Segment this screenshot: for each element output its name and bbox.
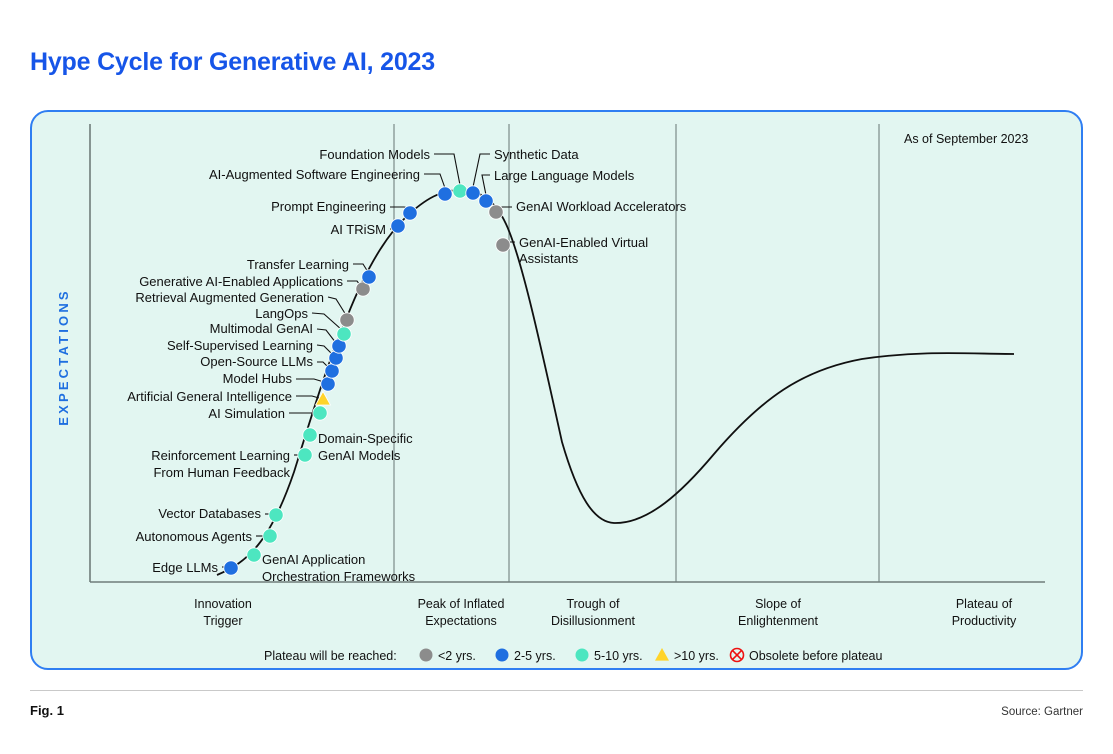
- datapoint-open-source-llms[interactable]: [325, 364, 339, 378]
- datapoint-label-open-source-llms: Open-Source LLMs: [200, 354, 313, 369]
- leader-line-agi: [296, 396, 319, 398]
- datapoint-label-foundation-models: Foundation Models: [319, 147, 430, 162]
- hype-cycle-chart-panel: EXPECTATIONSAs of September 2023Foundati…: [30, 110, 1083, 670]
- datapoint-label-prompt-eng: Prompt Engineering: [271, 199, 386, 214]
- phase-label-3-line1: Trough of: [566, 597, 620, 611]
- legend-label-lt2: <2 yrs.: [438, 649, 476, 663]
- datapoint-prompt-eng[interactable]: [403, 206, 417, 220]
- datapoint-label-genai-app-orch-2: Orchestration Frameworks: [262, 569, 416, 584]
- datapoint-synthetic-data[interactable]: [466, 186, 480, 200]
- legend-marker-lt2: [420, 649, 433, 662]
- legend-label-y5to10: 5-10 yrs.: [594, 649, 643, 663]
- datapoint-llm[interactable]: [479, 194, 493, 208]
- datapoint-vector-db[interactable]: [269, 508, 283, 522]
- legend-marker-y2to5: [496, 649, 509, 662]
- phase-label-2-line1: Peak of Inflated: [418, 597, 505, 611]
- datapoint-label-gen-ai-apps: Generative AI-Enabled Applications: [139, 274, 343, 289]
- legend-label-gt10: >10 yrs.: [674, 649, 719, 663]
- page-title: Hype Cycle for Generative AI, 2023: [30, 48, 435, 77]
- datapoint-label-langops: LangOps: [255, 306, 308, 321]
- legend-label-obsolete: Obsolete before plateau: [749, 649, 882, 663]
- datapoint-autonomous[interactable]: [263, 529, 277, 543]
- leader-line-model-hubs: [296, 379, 324, 382]
- datapoint-genai-app-orch[interactable]: [247, 548, 261, 562]
- datapoint-label-multimodal: Multimodal GenAI: [210, 321, 313, 336]
- datapoint-rlhf[interactable]: [298, 448, 312, 462]
- datapoint-label-agi: Artificial General Intelligence: [127, 389, 292, 404]
- leader-line-llm: [482, 175, 490, 195]
- datapoint-label-edge-llms: Edge LLMs: [152, 560, 218, 575]
- phase-label-5-line1: Plateau of: [956, 597, 1013, 611]
- phase-label-4-line1: Slope of: [755, 597, 801, 611]
- datapoint-label-transfer-learning: Transfer Learning: [247, 257, 349, 272]
- datapoint-label-virtual-assist-2: Assistants: [519, 251, 579, 266]
- legend-marker-y5to10: [576, 649, 589, 662]
- datapoint-transfer-learning[interactable]: [362, 270, 376, 284]
- phase-label-3-line2: Disillusionment: [551, 614, 636, 628]
- datapoint-label-synthetic-data: Synthetic Data: [494, 147, 579, 162]
- phase-label-1-line2: Trigger: [203, 614, 242, 628]
- datapoint-workload-accel[interactable]: [489, 205, 503, 219]
- datapoint-edge-llms[interactable]: [224, 561, 238, 575]
- datapoint-label-self-supervised: Self-Supervised Learning: [167, 338, 313, 353]
- datapoint-label-ai-aug-swe: AI-Augmented Software Engineering: [209, 167, 420, 182]
- source-label: Source: Gartner: [1001, 706, 1083, 718]
- datapoint-label-llm: Large Language Models: [494, 168, 635, 183]
- leader-line-rag: [328, 297, 346, 315]
- datapoint-label-genai-app-orch-1: GenAI Application: [262, 552, 365, 567]
- datapoint-virtual-assist[interactable]: [496, 238, 510, 252]
- datapoint-label-vector-db: Vector Databases: [158, 506, 261, 521]
- datapoint-label-domain-specific-2: GenAI Models: [318, 448, 401, 463]
- phase-label-1-line1: Innovation: [194, 597, 252, 611]
- datapoint-label-model-hubs: Model Hubs: [223, 371, 293, 386]
- leader-line-multimodal: [317, 329, 336, 343]
- datapoint-label-rlhf-1: Reinforcement Learning: [151, 448, 290, 463]
- legend-label-y2to5: 2-5 yrs.: [514, 649, 556, 663]
- legend-marker-obsolete: [731, 649, 744, 662]
- hype-cycle-svg: EXPECTATIONSAs of September 2023Foundati…: [32, 112, 1085, 672]
- phase-label-4-line2: Enlightenment: [738, 614, 818, 628]
- datapoint-ai-trism[interactable]: [391, 219, 405, 233]
- datapoint-model-hubs[interactable]: [321, 377, 335, 391]
- datapoint-label-ai-trism: AI TRiSM: [331, 222, 386, 237]
- datapoint-ai-aug-swe[interactable]: [438, 187, 452, 201]
- datapoint-label-rag: Retrieval Augmented Generation: [135, 290, 324, 305]
- legend-marker-gt10: [655, 648, 669, 661]
- leader-line-ai-aug-swe: [424, 174, 445, 188]
- footer-row: Fig. 1 Source: Gartner: [30, 690, 1083, 718]
- leader-line-synthetic-data: [473, 154, 490, 187]
- datapoint-label-ai-simulation: AI Simulation: [208, 406, 285, 421]
- datapoint-rag[interactable]: [340, 313, 354, 327]
- leader-line-foundation-models: [434, 154, 460, 185]
- datapoint-label-domain-specific-1: Domain-Specific: [318, 431, 413, 446]
- datapoint-foundation-models[interactable]: [453, 184, 467, 198]
- datapoint-ai-simulation[interactable]: [313, 406, 327, 420]
- legend-prefix: Plateau will be reached:: [264, 649, 397, 663]
- datapoint-label-autonomous: Autonomous Agents: [136, 529, 253, 544]
- datapoint-langops[interactable]: [337, 327, 351, 341]
- as-of-date: As of September 2023: [904, 132, 1028, 146]
- phase-label-2-line2: Expectations: [425, 614, 497, 628]
- leader-line-langops: [312, 313, 342, 330]
- datapoint-label-virtual-assist-1: GenAI-Enabled Virtual: [519, 235, 648, 250]
- phase-label-5-line2: Productivity: [952, 614, 1017, 628]
- datapoint-label-rlhf-2: From Human Feedback: [153, 465, 290, 480]
- datapoint-domain-specific[interactable]: [303, 428, 317, 442]
- y-axis-label: EXPECTATIONS: [56, 288, 71, 426]
- datapoint-label-workload-accel: GenAI Workload Accelerators: [516, 199, 687, 214]
- figure-label: Fig. 1: [30, 703, 64, 718]
